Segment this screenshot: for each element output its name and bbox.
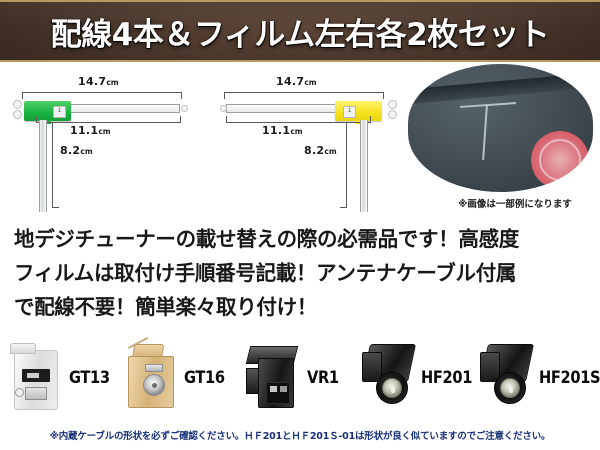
left-terminal-dot-2 (13, 110, 22, 119)
left-dim-label-82: 8.2cm (60, 144, 93, 157)
photo-caption: ※画像は一部例になります (430, 196, 600, 210)
left-terminal-dot-3 (181, 105, 188, 112)
right-film-vertical (360, 120, 368, 212)
connector-item-gt13: GT13 (8, 332, 116, 424)
right-dim-label-111: 11.1cm (262, 124, 303, 137)
connector-gt13-label: GT13 (69, 368, 110, 388)
copy-line-3: で配線不要！簡単楽々取り付け！ (14, 290, 586, 324)
right-dim-label-82: 8.2cm (304, 144, 337, 157)
connector-item-gt16: GT16 (123, 332, 231, 424)
left-dim-label-147: 14.7cm (78, 75, 119, 88)
connector-hf201s01-label: HF201S-01 (539, 368, 600, 388)
connector-hf201-icon (360, 342, 418, 414)
right-antenna-diagram: 14.7cm 1 11.1cm 8.2cm (210, 62, 410, 212)
right-dim-label-147: 14.7cm (276, 75, 317, 88)
connector-item-vr1: VR1 (246, 332, 344, 424)
right-dim-line-111 (226, 116, 371, 123)
banner-title: 配線4本＆フィルム左右各2枚セット (51, 9, 549, 54)
left-dim-line-82 (52, 122, 59, 208)
right-terminal-dot-3 (220, 105, 227, 112)
bottom-disclaimer: ※内蔵ケーブルの形状を必ずご確認ください。ＨＦ201とＨＦ201Ｓ-01は形状が… (0, 428, 600, 442)
antenna-trace-vertical (482, 105, 488, 160)
connector-item-hf201s01: HF201S-01 (478, 332, 600, 424)
windshield-sample-photo (408, 64, 593, 192)
left-dim-label-111: 11.1cm (70, 124, 111, 137)
product-banner-image: 配線4本＆フィルム左右各2枚セット 14.7cm 1 11.1cm (0, 0, 600, 450)
left-antenna-diagram: 14.7cm 1 11.1cm 8.2cm (8, 62, 208, 212)
left-film-vertical (39, 120, 47, 212)
connector-gt16-icon (123, 342, 181, 414)
connector-type-row: GT13 GT16 VR1 HF201 HF (0, 332, 600, 424)
marketing-copy: 地デジチューナーの載せ替えの際の必需品です！高感度 フィルムは取付け手順番号記載… (0, 216, 600, 328)
header-banner: 配線4本＆フィルム左右各2枚セット (0, 0, 600, 62)
connector-hf201-label: HF201 (421, 368, 472, 388)
connector-gt16-label: GT16 (184, 368, 225, 388)
copy-line-1: 地デジチューナーの載せ替えの際の必需品です！高感度 (14, 222, 586, 256)
connector-vr1-icon (246, 342, 304, 414)
right-dim-line-82 (340, 122, 347, 208)
right-terminal-dot-1 (388, 100, 397, 109)
connector-hf201s01-icon (478, 342, 536, 414)
right-dim-line-147 (224, 92, 384, 99)
connector-vr1-label: VR1 (307, 368, 339, 388)
left-dim-line-147 (22, 92, 182, 99)
connector-item-hf201: HF201 (360, 332, 480, 424)
left-terminal-dot-1 (13, 100, 22, 109)
connector-gt13-icon (8, 342, 66, 414)
copy-line-2: フィルムは取付け手順番号記載！アンテナケーブル付属 (14, 256, 586, 290)
right-terminal-dot-2 (388, 110, 397, 119)
